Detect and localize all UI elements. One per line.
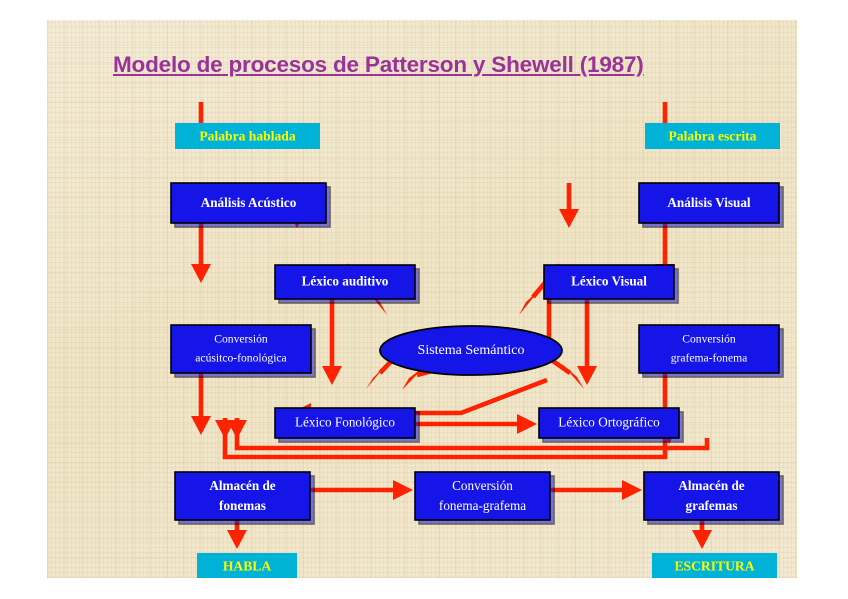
node-palabra-escrita-label: Palabra escrita (669, 129, 757, 144)
node-conversion-grafema-fonema-label-line1: Conversión (682, 333, 736, 346)
edge-analisis-visual-to-lexico-visual (559, 183, 579, 228)
node-palabra-escrita[interactable]: Palabra escrita (645, 123, 780, 149)
node-lexico-fonologico[interactable]: Léxico Fonológico (275, 408, 419, 442)
process-model-diagram: Palabra hablada Palabra escrita Análisis… (47, 20, 797, 578)
node-sistema-semantico[interactable]: Sistema Semántico (380, 326, 562, 375)
node-lexico-auditivo[interactable]: Léxico auditivo (275, 265, 419, 303)
node-lexico-fonologico-label: Léxico Fonológico (295, 415, 395, 430)
node-analisis-visual[interactable]: Análisis Visual (639, 183, 783, 227)
node-habla[interactable]: HABLA (197, 553, 297, 578)
node-almacen-fonemas-label-line2: fonemas (219, 498, 266, 513)
node-escritura-label: ESCRITURA (674, 559, 754, 574)
node-conversion-acustico-fonologica-label-line1: Conversión (214, 333, 268, 346)
node-almacen-grafemas-label-line2: grafemas (686, 498, 738, 513)
node-conversion-fonema-grafema[interactable]: Conversión fonema-grafema (415, 472, 554, 524)
node-conversion-fonema-grafema-label-line1: Conversión (452, 478, 513, 493)
node-lexico-ortografico[interactable]: Léxico Ortográfico (539, 408, 683, 442)
node-conversion-acustico-fonologica[interactable]: Conversión acúsitco-fonológica (171, 325, 315, 377)
node-sistema-semantico-label: Sistema Semántico (418, 343, 525, 358)
node-lexico-auditivo-label: Léxico auditivo (302, 274, 389, 289)
edge-lexico-fonologico-to-lexico-ortografico (415, 414, 537, 434)
node-lexico-visual[interactable]: Léxico Visual (544, 265, 678, 303)
node-lexico-visual-label: Léxico Visual (571, 274, 647, 289)
node-escritura[interactable]: ESCRITURA (652, 553, 777, 578)
node-analisis-acustico-label: Análisis Acústico (201, 195, 297, 210)
slide-page: Modelo de procesos de Patterson y Shewel… (0, 0, 848, 599)
node-almacen-fonemas[interactable]: Almacén de fonemas (175, 472, 314, 524)
node-analisis-visual-label: Análisis Visual (667, 195, 751, 210)
node-almacen-grafemas-label-line1: Almacén de (678, 478, 744, 493)
presentation-slide: Modelo de procesos de Patterson y Shewel… (47, 20, 797, 578)
node-palabra-hablada[interactable]: Palabra hablada (175, 123, 320, 149)
node-almacen-grafemas[interactable]: Almacén de grafemas (644, 472, 783, 524)
node-analisis-acustico[interactable]: Análisis Acústico (171, 183, 330, 227)
node-habla-label: HABLA (223, 559, 272, 574)
node-lexico-ortografico-label: Léxico Ortográfico (558, 415, 660, 430)
node-conversion-grafema-fonema[interactable]: Conversión grafema-fonema (639, 325, 783, 377)
edge-conversion-fonema-grafema-to-almacen-grafemas (550, 480, 642, 500)
node-almacen-fonemas-label-line1: Almacén de (209, 478, 275, 493)
node-conversion-fonema-grafema-label-line2: fonema-grafema (439, 498, 526, 513)
node-conversion-acustico-fonologica-label-line2: acúsitco-fonológica (195, 352, 286, 365)
node-palabra-hablada-label: Palabra hablada (199, 129, 296, 144)
node-layer: Palabra hablada Palabra escrita Análisis… (171, 123, 783, 578)
node-conversion-grafema-fonema-label-line2: grafema-fonema (671, 352, 748, 365)
edge-almacen-fonemas-to-conversion-fonema-grafema (310, 480, 413, 500)
